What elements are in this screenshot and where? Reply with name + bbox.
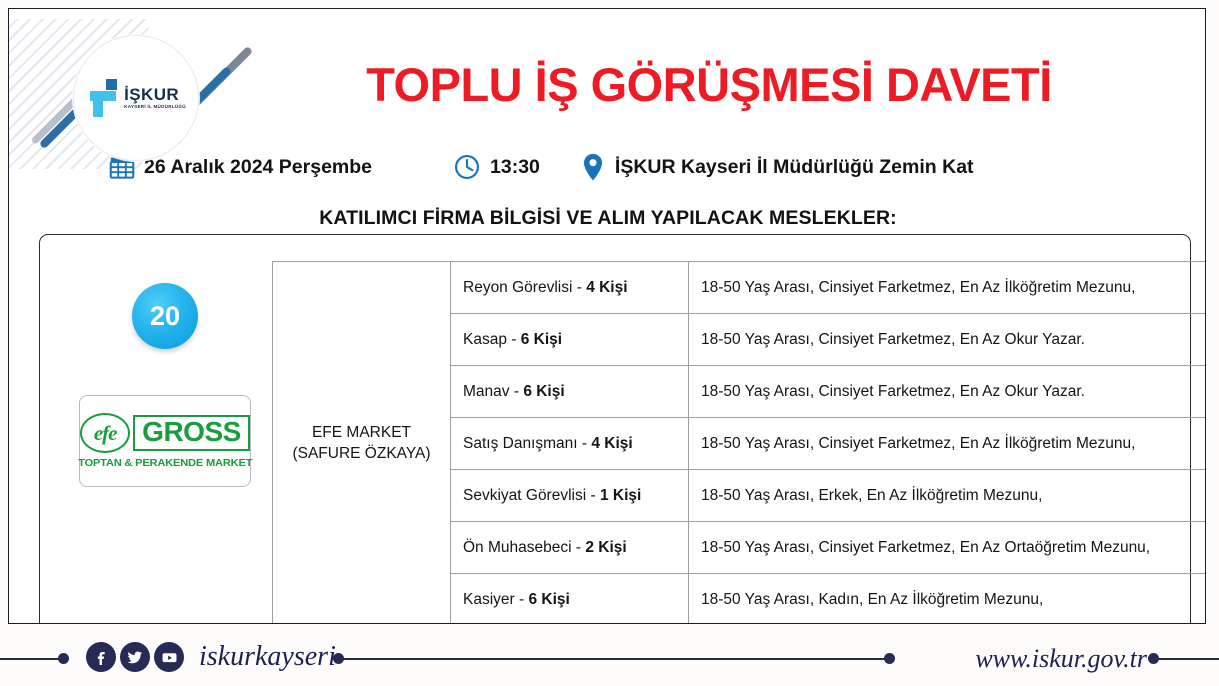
facebook-icon[interactable] [86, 642, 116, 672]
job-position-cell: Kasiyer - 6 Kişi [451, 574, 689, 625]
job-count: 6 Kişi [523, 383, 564, 400]
clock-icon [454, 154, 480, 180]
iskur-logo-name: İŞKUR [124, 86, 186, 103]
job-requirements-cell: 18-50 Yaş Arası, Erkek, En Az İlköğretim… [689, 470, 1207, 522]
footer-line-mid [340, 658, 887, 660]
page-title: TOPLU İŞ GÖRÜŞMESİ DAVETİ [309, 57, 1109, 112]
efe-gross-logo: efe GROSS TOPTAN & PERAKENDE MARKET [79, 395, 251, 487]
job-count: 4 Kişi [591, 435, 632, 452]
iskur-logo: İŞKUR KAYSERİ İL MÜDÜRLÜĞÜ [73, 35, 199, 161]
event-time-text: 13:30 [490, 156, 540, 179]
company-name-cell: EFE MARKET (SAFURE ÖZKAYA) [273, 262, 451, 625]
job-position-cell: Sevkiyat Görevlisi - 1 Kişi [451, 470, 689, 522]
footer-dot-left [58, 653, 69, 664]
company-name-line1: EFE MARKET [312, 424, 411, 441]
twitter-icon[interactable] [120, 642, 150, 672]
job-requirements-cell: 18-50 Yaş Arası, Cinsiyet Farketmez, En … [689, 418, 1207, 470]
iskur-symbol-icon [86, 77, 120, 119]
job-position-cell: Satış Danışmanı - 4 Kişi [451, 418, 689, 470]
social-handle: iskurkayseri [199, 641, 336, 673]
job-position-label: Manav - [463, 383, 523, 400]
efe-mark: efe [80, 413, 130, 453]
company-name-line2: (SAFURE ÖZKAYA) [292, 445, 430, 462]
job-count: 6 Kişi [528, 591, 569, 608]
footer-line-left [0, 658, 62, 660]
job-position-cell: Reyon Görevlisi - 4 Kişi [451, 262, 689, 314]
job-position-cell: Kasap - 6 Kişi [451, 314, 689, 366]
job-position-label: Ön Muhasebeci - [463, 539, 585, 556]
vacancy-count-badge: 20 [132, 283, 198, 349]
job-count: 1 Kişi [600, 487, 641, 504]
footer-dot-mid-right [884, 653, 895, 664]
job-position-label: Kasiyer - [463, 591, 528, 608]
footer: iskurkayseri www.iskur.gov.tr [0, 632, 1219, 686]
logo-tagline: TOPTAN & PERAKENDE MARKET [78, 457, 252, 469]
job-position-cell: Ön Muhasebeci - 2 Kişi [451, 522, 689, 574]
table-row: EFE MARKET (SAFURE ÖZKAYA) Reyon Görevli… [273, 262, 1207, 314]
listing-container: 20 efe GROSS TOPTAN & PERAKENDE MARKET E… [39, 234, 1191, 624]
company-branding-panel: 20 efe GROSS TOPTAN & PERAKENDE MARKET [65, 283, 265, 487]
job-count: 2 Kişi [585, 539, 626, 556]
job-count: 6 Kişi [521, 331, 562, 348]
footer-line-right [1155, 658, 1219, 660]
event-location: İŞKUR Kayseri İl Müdürlüğü Zemin Kat [582, 153, 974, 181]
job-count: 4 Kişi [586, 279, 627, 296]
job-position-label: Reyon Görevlisi - [463, 279, 586, 296]
job-position-label: Kasap - [463, 331, 521, 348]
job-requirements-cell: 18-50 Yaş Arası, Cinsiyet Farketmez, En … [689, 262, 1207, 314]
jobs-table-body: EFE MARKET (SAFURE ÖZKAYA) Reyon Görevli… [273, 262, 1207, 625]
gross-wordmark: GROSS [133, 415, 250, 450]
section-heading: KATILIMCI FİRMA BİLGİSİ VE ALIM YAPILACA… [9, 207, 1206, 230]
poster-canvas: İŞKUR KAYSERİ İL MÜDÜRLÜĞÜ TOPLU İŞ GÖRÜ… [8, 8, 1206, 624]
youtube-icon[interactable] [154, 642, 184, 672]
event-info-row: 26 Aralık 2024 Perşembe 13:30 [109, 149, 1169, 185]
social-links: iskurkayseri [86, 641, 336, 673]
job-position-label: Satış Danışmanı - [463, 435, 591, 452]
iskur-logo-subtitle: KAYSERİ İL MÜDÜRLÜĞÜ [124, 105, 186, 110]
map-pin-icon [582, 153, 604, 181]
event-location-text: İŞKUR Kayseri İl Müdürlüğü Zemin Kat [615, 156, 974, 179]
job-position-cell: Manav - 6 Kişi [451, 366, 689, 418]
event-time: 13:30 [454, 154, 540, 180]
job-requirements-cell: 18-50 Yaş Arası, Kadın, En Az İlköğretim… [689, 574, 1207, 625]
website-url: www.iskur.gov.tr [975, 644, 1147, 674]
job-requirements-cell: 18-50 Yaş Arası, Cinsiyet Farketmez, En … [689, 366, 1207, 418]
jobs-table: EFE MARKET (SAFURE ÖZKAYA) Reyon Görevli… [272, 261, 1206, 624]
job-position-label: Sevkiyat Görevlisi - [463, 487, 600, 504]
poster-root: İŞKUR KAYSERİ İL MÜDÜRLÜĞÜ TOPLU İŞ GÖRÜ… [0, 0, 1219, 686]
job-requirements-cell: 18-50 Yaş Arası, Cinsiyet Farketmez, En … [689, 314, 1207, 366]
event-date-text: 26 Aralık 2024 Perşembe [144, 156, 372, 179]
job-requirements-cell: 18-50 Yaş Arası, Cinsiyet Farketmez, En … [689, 522, 1207, 574]
